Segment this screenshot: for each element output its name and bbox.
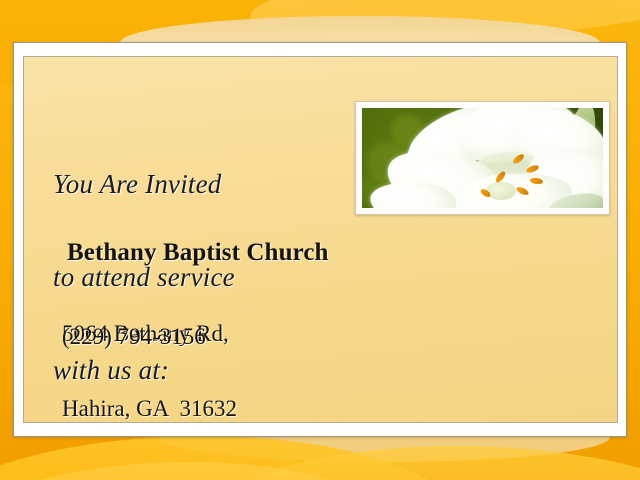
invitation-slide: You Are Invited to attend service with u… [0,0,640,480]
card-frame: You Are Invited to attend service with u… [13,42,627,437]
background-wave-bottom-right [420,440,640,480]
address-block: 5064 Bethany Rd, Hahira, GA 31632 [62,271,237,471]
lily-photo [362,108,603,208]
photo-frame [355,101,610,215]
background-wave-bottom-center [190,446,640,480]
lily-pistil [486,182,516,200]
organization-name: Bethany Baptist Church [67,239,329,267]
headline-line-1: You Are Invited [53,169,235,200]
card-panel: You Are Invited to attend service with u… [23,56,618,423]
address-line-2: Hahira, GA 31632 [62,396,237,421]
phone-number: (229) 794-3156 [62,324,206,350]
